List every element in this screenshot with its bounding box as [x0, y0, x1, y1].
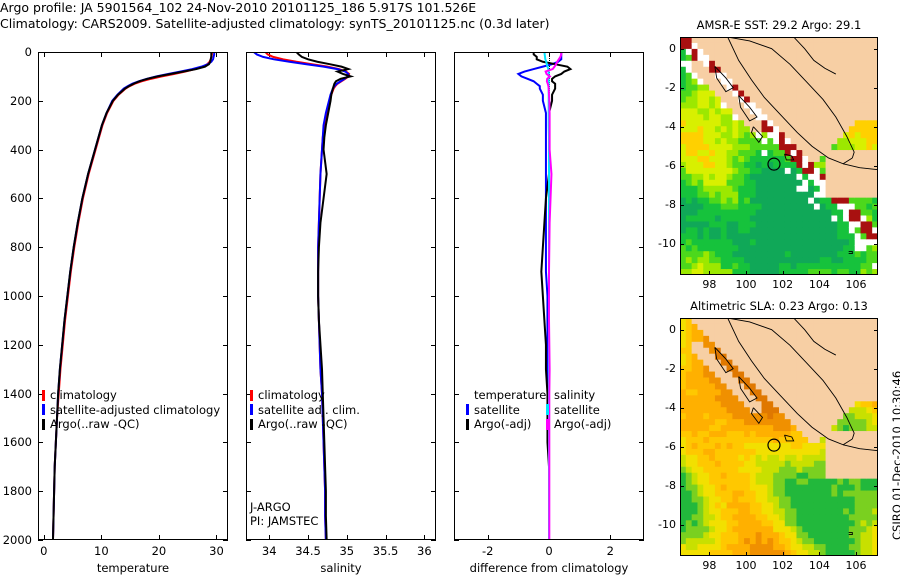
x-tick: [308, 52, 309, 57]
depth-tick-label: 1200: [0, 338, 32, 352]
map-x-tick-label: 106: [842, 278, 870, 291]
map-x-tick: [819, 552, 820, 556]
legend-label: climatology: [50, 388, 117, 403]
map-frame-sla: [680, 318, 878, 556]
legend-difference-col-0: temperaturesatelliteArgo(-adj): [466, 388, 546, 432]
legend-row: satellite: [546, 403, 611, 418]
map-y-tick-label: -6: [650, 440, 676, 453]
legend-salinity: climatologysatellite adj. clim.Argo(..ra…: [250, 388, 360, 432]
x-tick: [386, 535, 387, 540]
map-y-tick-label: 0: [650, 323, 676, 336]
depth-tick: [223, 540, 228, 541]
depth-tick: [454, 150, 459, 151]
map-y-tick-label: -6: [650, 159, 676, 172]
axis-label-temperature: temperature: [38, 561, 228, 575]
map-y-tick: [680, 525, 684, 526]
depth-tick: [639, 345, 644, 346]
depth-tick: [223, 296, 228, 297]
legend-swatch: [546, 404, 549, 415]
map-y-tick: [680, 244, 684, 245]
depth-tick: [431, 345, 436, 346]
legend-swatch: [42, 419, 45, 430]
x-tick: [101, 535, 102, 540]
depth-tick: [454, 247, 459, 248]
legend-row: climatology: [42, 388, 220, 403]
legend-heading-spacer: [546, 390, 549, 401]
map-x-tick: [856, 552, 857, 556]
x-tick: [269, 52, 270, 57]
note-line: PI: JAMSTEC: [250, 514, 318, 528]
depth-tick: [454, 394, 459, 395]
map-y-tick: [874, 330, 878, 331]
map-x-tick: [746, 552, 747, 556]
x-tick: [424, 535, 425, 540]
map-x-tick: [819, 271, 820, 275]
map-x-tick: [856, 271, 857, 275]
map-y-tick-label: -10: [650, 518, 676, 531]
legend-label: Argo(-adj): [474, 417, 531, 432]
depth-tick: [223, 101, 228, 102]
depth-tick: [246, 52, 251, 53]
depth-tick: [454, 52, 459, 53]
title-line-1: Argo profile: JA 5901564_102 24-Nov-2010…: [0, 0, 640, 16]
map-y-tick: [874, 244, 878, 245]
depth-tick: [246, 296, 251, 297]
map-y-tick: [874, 369, 878, 370]
x-tick: [308, 535, 309, 540]
legend-row: Argo(..raw -QC): [250, 417, 360, 432]
depth-tick: [639, 442, 644, 443]
x-tick-label: 30: [191, 544, 241, 558]
map-y-tick: [680, 486, 684, 487]
depth-tick: [454, 540, 459, 541]
map-y-tick: [680, 127, 684, 128]
depth-tick: [246, 345, 251, 346]
map-frame-sst: [680, 37, 878, 275]
map-y-tick: [680, 166, 684, 167]
x-tick: [269, 535, 270, 540]
x-tick-label: 20: [134, 544, 184, 558]
depth-tick: [639, 540, 644, 541]
depth-tick: [639, 101, 644, 102]
depth-tick: [38, 150, 43, 151]
depth-tick: [639, 247, 644, 248]
depth-tick-label: 200: [0, 94, 32, 108]
depth-tick: [639, 150, 644, 151]
depth-tick: [246, 101, 251, 102]
legend-swatch: [250, 404, 253, 415]
depth-tick: [223, 150, 228, 151]
map-x-tick: [709, 552, 710, 556]
map-x-tick-label: 98: [695, 559, 723, 572]
legend-swatch: [250, 390, 253, 401]
depth-tick-label: 800: [0, 240, 32, 254]
depth-tick-label: 1800: [0, 484, 32, 498]
legend-swatch: [466, 419, 469, 430]
x-tick: [159, 52, 160, 57]
x-tick: [424, 52, 425, 57]
legend-swatch: [466, 404, 469, 415]
map-y-tick: [680, 408, 684, 409]
map-y-tick-label: -8: [650, 479, 676, 492]
plot-panel-temperature: [38, 52, 228, 540]
depth-tick: [454, 198, 459, 199]
depth-tick-label: 600: [0, 191, 32, 205]
depth-tick: [38, 247, 43, 248]
legend-label: climatology: [258, 388, 325, 403]
map-y-tick-label: -10: [650, 237, 676, 250]
depth-tick: [246, 247, 251, 248]
depth-tick: [223, 442, 228, 443]
x-tick: [44, 535, 45, 540]
map-y-tick: [680, 88, 684, 89]
map-y-tick-label: -2: [650, 81, 676, 94]
map-y-tick: [874, 486, 878, 487]
depth-tick: [38, 442, 43, 443]
map-x-tick-label: 102: [769, 278, 797, 291]
map-x-tick-label: 100: [732, 559, 760, 572]
map-x-tick: [783, 271, 784, 275]
depth-tick: [38, 345, 43, 346]
legend-label: Argo(..raw -QC): [50, 417, 140, 432]
depth-tick: [246, 150, 251, 151]
x-tick: [159, 535, 160, 540]
depth-tick: [223, 52, 228, 53]
legend-row: satellite adj. clim.: [250, 403, 360, 418]
legend-row: Argo(-adj): [466, 417, 546, 432]
x-tick-label: -2: [463, 544, 513, 558]
map-y-tick: [874, 49, 878, 50]
depth-tick: [38, 52, 43, 53]
axis-label-difference: difference from climatology: [454, 561, 644, 575]
x-tick-label: 0: [524, 544, 574, 558]
map-y-tick: [874, 525, 878, 526]
legend-heading: temperature: [466, 388, 546, 403]
figure-title-block: Argo profile: JA 5901564_102 24-Nov-2010…: [0, 0, 640, 32]
legend-heading-label: temperature: [474, 388, 546, 403]
x-tick: [610, 535, 611, 540]
map-x-tick-label: 104: [805, 278, 833, 291]
map-x-tick-label: 106: [842, 559, 870, 572]
x-tick: [216, 535, 217, 540]
depth-tick: [431, 198, 436, 199]
map-y-tick-label: -4: [650, 401, 676, 414]
legend-temperature: climatologysatellite-adjusted climatolog…: [42, 388, 220, 432]
map-title-sst: AMSR-E SST: 29.2 Argo: 29.1: [680, 18, 878, 32]
depth-tick-label: 0: [0, 45, 32, 59]
map-y-tick-label: -4: [650, 120, 676, 133]
map-y-tick: [680, 49, 684, 50]
depth-tick: [38, 198, 43, 199]
map-x-tick: [709, 271, 710, 275]
x-tick: [347, 52, 348, 57]
depth-tick: [454, 442, 459, 443]
map-x-tick-label: 100: [732, 278, 760, 291]
axis-label-salinity: salinity: [246, 561, 436, 575]
legend-label: Argo(-adj): [554, 417, 611, 432]
csiro-credit: CSIRO 01-Dec-2010 10:30:46: [890, 371, 900, 540]
depth-tick-label: 1400: [0, 387, 32, 401]
depth-tick-label: 1000: [0, 289, 32, 303]
map-x-tick-label: 98: [695, 278, 723, 291]
depth-tick: [223, 198, 228, 199]
depth-tick: [223, 247, 228, 248]
depth-tick: [431, 101, 436, 102]
map-y-tick-label: 0: [650, 42, 676, 55]
depth-tick: [223, 345, 228, 346]
x-tick-label: 36: [399, 544, 449, 558]
legend-label: satellite adj. clim.: [258, 403, 360, 418]
depth-tick: [639, 198, 644, 199]
legend-swatch: [250, 419, 253, 430]
legend-label: Argo(..raw -QC): [258, 417, 348, 432]
legend-row: Argo(-adj): [546, 417, 611, 432]
x-tick: [610, 52, 611, 57]
x-tick: [347, 535, 348, 540]
legend-row: satellite-adjusted climatology: [42, 403, 220, 418]
map-y-tick-label: -8: [650, 198, 676, 211]
legend-label: satellite: [474, 403, 520, 418]
depth-tick: [223, 491, 228, 492]
map-x-tick-label: 104: [805, 559, 833, 572]
map-x-tick: [746, 271, 747, 275]
legend-swatch: [546, 419, 549, 430]
depth-tick-label: 400: [0, 143, 32, 157]
legend-label: satellite: [554, 403, 600, 418]
depth-tick: [246, 198, 251, 199]
legend-row: climatology: [250, 388, 360, 403]
title-line-2: Climatology: CARS2009. Satellite-adjuste…: [0, 16, 640, 32]
x-tick: [386, 52, 387, 57]
depth-tick: [246, 540, 251, 541]
depth-tick: [454, 101, 459, 102]
depth-tick: [431, 247, 436, 248]
x-tick-label: 0: [19, 544, 69, 558]
map-y-tick: [680, 369, 684, 370]
legend-swatch: [42, 404, 45, 415]
map-x-tick: [783, 552, 784, 556]
legend-row: satellite: [466, 403, 546, 418]
depth-tick: [639, 394, 644, 395]
depth-tick: [431, 394, 436, 395]
zero-reference-line: [549, 53, 550, 539]
legend-heading: salinity: [546, 388, 611, 403]
x-tick: [101, 52, 102, 57]
depth-tick: [431, 540, 436, 541]
legend-swatch: [42, 390, 45, 401]
depth-tick: [431, 491, 436, 492]
map-y-tick: [874, 408, 878, 409]
depth-tick: [639, 52, 644, 53]
map-title-sla: Altimetric SLA: 0.23 Argo: 0.13: [680, 299, 878, 313]
x-tick-label: 2: [585, 544, 635, 558]
depth-tick: [38, 540, 43, 541]
map-y-tick: [680, 330, 684, 331]
map-x-tick-label: 102: [769, 559, 797, 572]
legend-heading-spacer: [466, 390, 469, 401]
depth-tick: [639, 296, 644, 297]
legend-row: Argo(..raw -QC): [42, 417, 220, 432]
depth-tick-label: 1600: [0, 435, 32, 449]
depth-tick: [38, 101, 43, 102]
legend-difference-col-1: salinitysatelliteArgo(-adj): [546, 388, 611, 432]
depth-tick: [454, 345, 459, 346]
map-y-tick: [874, 88, 878, 89]
x-tick: [488, 535, 489, 540]
x-tick: [216, 52, 217, 57]
depth-tick: [431, 150, 436, 151]
map-y-tick: [874, 447, 878, 448]
depth-tick: [454, 296, 459, 297]
x-tick-label: 10: [76, 544, 126, 558]
map-y-tick: [874, 127, 878, 128]
map-y-tick-label: -2: [650, 362, 676, 375]
depth-tick: [38, 296, 43, 297]
depth-tick: [431, 296, 436, 297]
depth-tick: [223, 394, 228, 395]
depth-tick: [246, 442, 251, 443]
note-line: J-ARGO: [250, 500, 291, 514]
map-y-tick: [680, 447, 684, 448]
depth-tick: [38, 491, 43, 492]
map-y-tick: [680, 205, 684, 206]
x-tick: [488, 52, 489, 57]
depth-tick: [431, 442, 436, 443]
map-y-tick: [874, 166, 878, 167]
depth-tick: [454, 491, 459, 492]
x-tick: [44, 52, 45, 57]
legend-heading-label: salinity: [554, 388, 595, 403]
depth-tick: [246, 491, 251, 492]
depth-tick: [639, 491, 644, 492]
plot-panel-salinity: [246, 52, 436, 540]
legend-label: satellite-adjusted climatology: [50, 403, 220, 418]
map-y-tick: [874, 205, 878, 206]
depth-tick: [431, 52, 436, 53]
